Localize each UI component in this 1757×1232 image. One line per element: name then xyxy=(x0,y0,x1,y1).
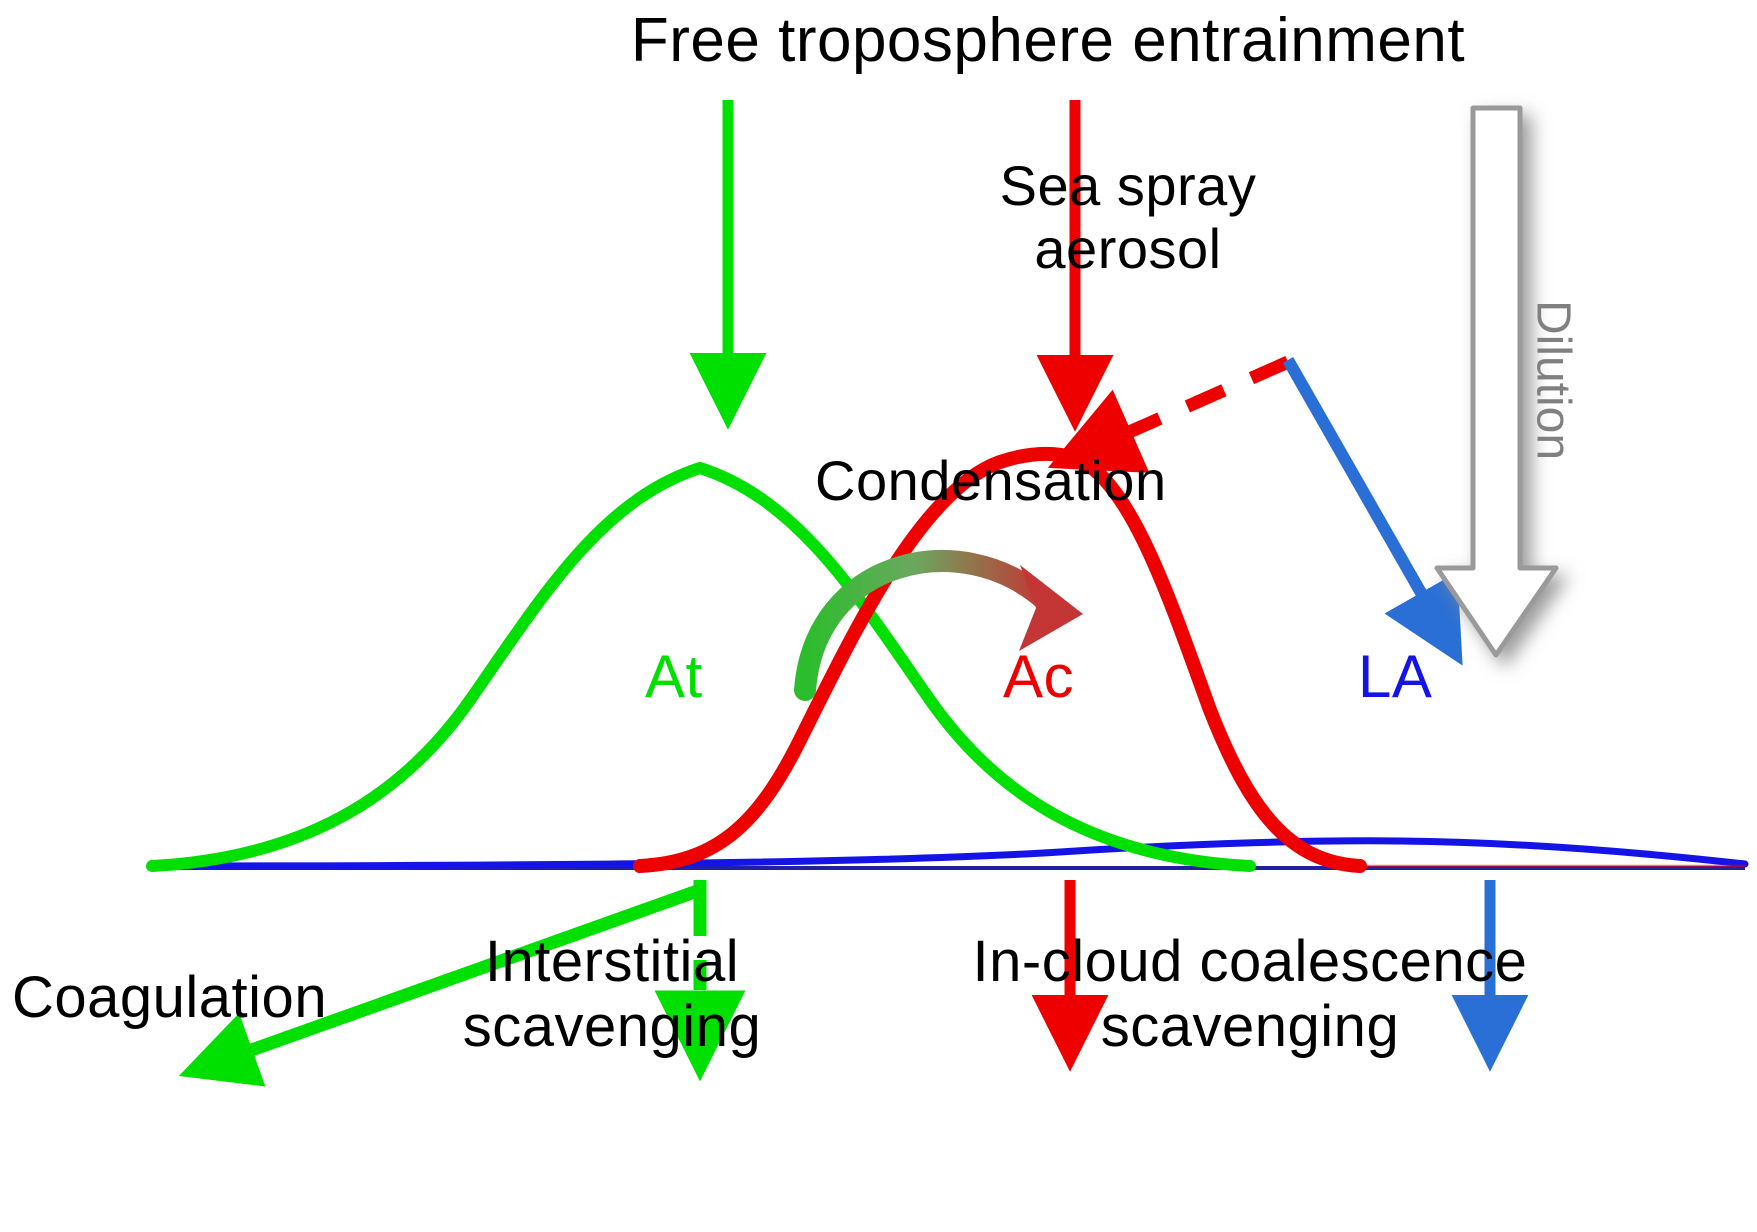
label-incloud-line2: scavenging xyxy=(973,995,1528,1060)
label-mode-at: At xyxy=(645,645,703,708)
label-mode-la: LA xyxy=(1358,645,1432,708)
label-condensation: Condensation xyxy=(815,452,1167,511)
label-sea-spray-aerosol: Sea spray aerosol xyxy=(1000,155,1257,280)
label-interstitial-scavenging: Interstitial scavenging xyxy=(463,930,761,1060)
label-dilution: Dilution xyxy=(1526,300,1581,460)
label-free-troposphere-entrainment: Free troposphere entrainment xyxy=(631,8,1465,73)
label-incloud-line1: In-cloud coalescence xyxy=(973,930,1528,995)
label-sea-spray-line1: Sea spray xyxy=(1000,155,1257,218)
arrow-sea-spray-dashed-red xyxy=(1093,362,1288,448)
curve-la-blue xyxy=(152,841,1745,866)
curve-ac-red xyxy=(640,454,1360,866)
arrow-sea-spray-blue xyxy=(1288,360,1440,626)
label-coagulation: Coagulation xyxy=(12,968,327,1029)
label-interstitial-line2: scavenging xyxy=(463,995,761,1060)
figure-canvas: Free troposphere entrainment Sea spray a… xyxy=(0,0,1757,1232)
label-sea-spray-line2: aerosol xyxy=(1000,218,1257,281)
label-mode-ac: Ac xyxy=(1003,645,1074,708)
label-interstitial-line1: Interstitial xyxy=(463,930,761,995)
label-incloud-coalescence-scavenging: In-cloud coalescence scavenging xyxy=(973,930,1528,1060)
